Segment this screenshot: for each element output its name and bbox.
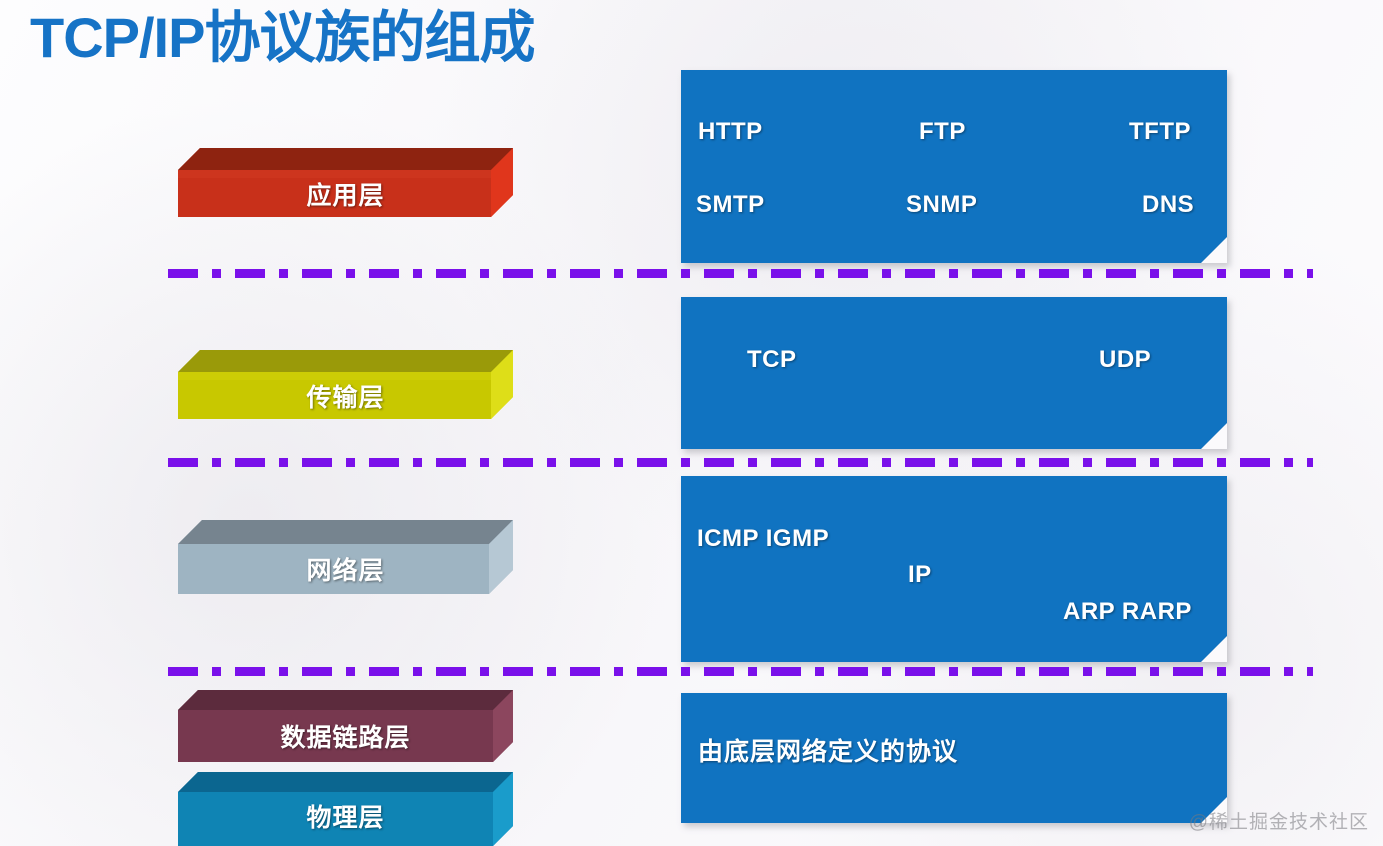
protocol-http: HTTP	[698, 118, 763, 146]
physical-layer-label: 物理层	[306, 798, 384, 834]
protocol-icmp-igmp: ICMP IGMP	[697, 525, 829, 553]
network-layer-box: 网络层	[178, 520, 513, 594]
watermark: @稀土掘金技术社区	[1189, 807, 1369, 834]
protocol-smtp: SMTP	[696, 191, 765, 219]
protocol-tcp: TCP	[747, 346, 797, 374]
data-link-layer-box: 数据链路层	[178, 690, 513, 762]
protocol-arp-rarp: ARP RARP	[1063, 598, 1192, 626]
separator-application-transport	[168, 269, 1313, 278]
physical-layer-box: 物理层	[178, 772, 513, 846]
protocol-link-defined: 由底层网络定义的协议	[698, 732, 958, 768]
data-link-layer-front: 数据链路层	[178, 710, 513, 762]
slide-canvas: TCP/IP协议族的组成 HTTP FTP TFTP SMTP SNMP DNS…	[0, 0, 1383, 846]
physical-layer-front: 物理层	[178, 792, 513, 840]
protocol-udp: UDP	[1099, 346, 1151, 374]
protocol-ip: IP	[908, 561, 932, 589]
panel-fold-corner	[1201, 237, 1227, 263]
application-protocols-panel	[681, 70, 1227, 263]
protocol-dns: DNS	[1142, 191, 1194, 219]
panel-fold-corner	[1201, 423, 1227, 449]
application-layer-label: 应用层	[306, 176, 384, 212]
protocol-snmp: SNMP	[906, 191, 977, 219]
separator-network-link	[168, 667, 1313, 676]
application-layer-box: 应用层	[178, 148, 513, 217]
panel-fold-corner	[1201, 636, 1227, 662]
transport-layer-front: 传输层	[178, 372, 513, 419]
application-layer-front: 应用层	[178, 170, 513, 217]
protocol-ftp: FTP	[919, 118, 966, 146]
network-layer-front: 网络层	[178, 544, 513, 594]
data-link-layer-label: 数据链路层	[280, 718, 410, 754]
transport-layer-box: 传输层	[178, 350, 513, 419]
page-title: TCP/IP协议族的组成	[30, 7, 534, 69]
network-layer-label: 网络层	[306, 551, 384, 587]
separator-transport-network	[168, 458, 1313, 467]
transport-layer-label: 传输层	[306, 378, 384, 414]
network-protocols-panel	[681, 476, 1227, 662]
protocol-tftp: TFTP	[1129, 118, 1191, 146]
